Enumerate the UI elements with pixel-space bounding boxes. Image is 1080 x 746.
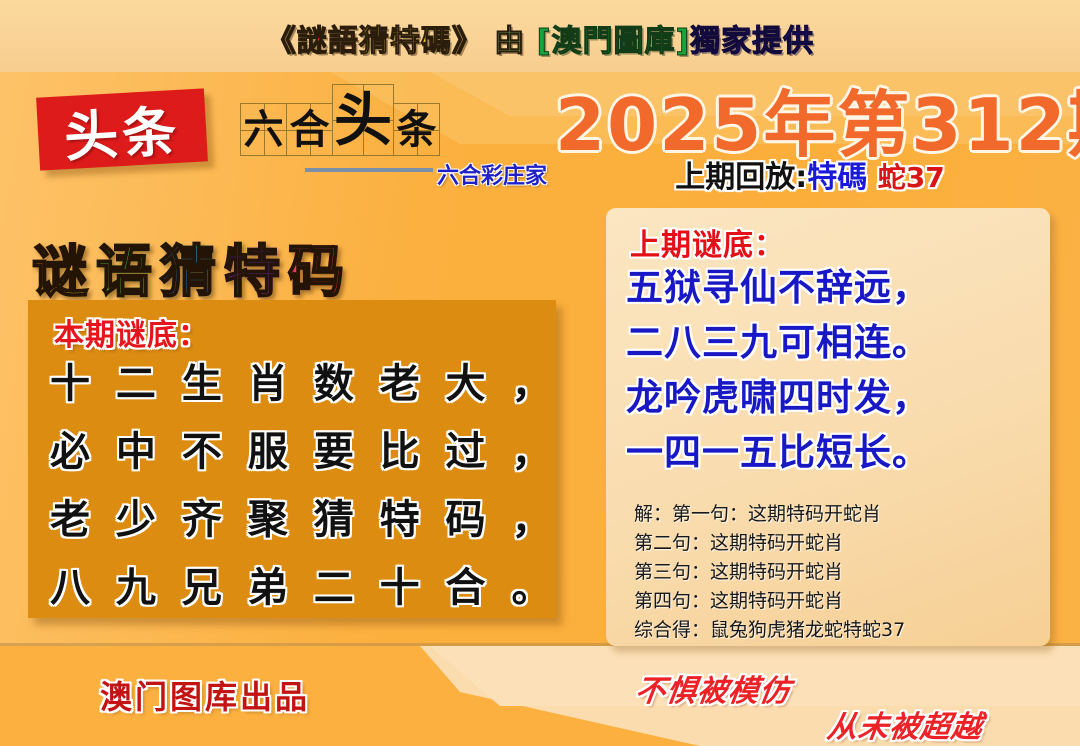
rainbow-title-char: 谜 bbox=[32, 227, 90, 308]
masthead-line: 《謎語猜特碼》 由 [澳門圖庫]獨家提供 bbox=[0, 16, 1080, 60]
riddle-line: 必 中 不 服 要 比 过 ， bbox=[50, 418, 542, 486]
rainbow-title-char: 猜 bbox=[160, 227, 218, 308]
explanation-line: 第三句：这期特码开蛇肖 bbox=[634, 558, 1034, 587]
previous-draw-line: 上期回放:特碼 蛇37 bbox=[560, 152, 1060, 192]
previous-draw-label: 上期回放: bbox=[675, 152, 807, 196]
previous-draw-special-value: 蛇37 bbox=[878, 156, 945, 196]
issue-title: 2025年第312期 bbox=[555, 66, 1055, 150]
headline-badge: 头条 bbox=[36, 88, 208, 170]
previous-answer-lines: 五狱寻仙不辞远， 二八三九可相连。 龙吟虎啸四时发， 一四一五比短长。 bbox=[626, 260, 1036, 480]
previous-answer-panel: 上期谜底： 五狱寻仙不辞远， 二八三九可相连。 龙吟虎啸四时发， 一四一五比短长… bbox=[606, 208, 1050, 646]
rainbow-title-char: 语 bbox=[96, 227, 154, 308]
masthead-source-bracket-open: [ bbox=[537, 24, 552, 59]
footer-credit: 澳门图库出品 bbox=[100, 672, 310, 718]
grid-title-char: 合 bbox=[290, 110, 330, 150]
masthead-source: 澳門圖庫 bbox=[551, 16, 675, 60]
rainbow-title-char: 特 bbox=[224, 227, 282, 308]
answer-line: 龙吟虎啸四时发， bbox=[626, 370, 1036, 425]
headline-badge-label: 头条 bbox=[36, 88, 208, 170]
grid-title: 六 合 头 条 bbox=[240, 84, 439, 156]
grid-title-char: 六 bbox=[244, 110, 284, 150]
answer-explanation: 解：第一句：这期特码开蛇肖 第二句：这期特码开蛇肖 第三句：这期特码开蛇肖 第四… bbox=[634, 500, 1034, 645]
answer-line: 五狱寻仙不辞远， bbox=[626, 260, 1036, 315]
explanation-line: 综合得：鼠兔狗虎猪龙蛇特蛇37 bbox=[634, 616, 1034, 645]
riddle-line: 老 少 齐 聚 猜 特 码 ， bbox=[50, 486, 542, 554]
poster-canvas: 《謎語猜特碼》 由 [澳門圖庫]獨家提供 头条 六 合 头 条 六合彩庄家 20… bbox=[0, 0, 1080, 746]
riddle-line: 十 二 生 肖 数 老 大 ， bbox=[50, 350, 542, 418]
previous-draw-special-label: 特碼 bbox=[807, 152, 867, 196]
masthead-title-yellow: 猜特碼 bbox=[359, 16, 452, 60]
explanation-line: 解：第一句：这期特码开蛇肖 bbox=[634, 500, 1034, 529]
footer-slogan-2: 从未被超越 bbox=[825, 702, 986, 746]
answer-line: 二八三九可相连。 bbox=[626, 315, 1036, 370]
subtitle-rule bbox=[305, 168, 433, 172]
rainbow-title: 谜 语 猜 特 码 bbox=[32, 236, 352, 298]
current-riddle-panel: 本期谜底： 十 二 生 肖 数 老 大 ， 必 中 不 服 要 比 过 ， 老 … bbox=[28, 300, 556, 618]
rainbow-title-char: 码 bbox=[288, 227, 346, 308]
footer-slogan-1: 不惧被模仿 bbox=[633, 666, 794, 710]
current-riddle-lines: 十 二 生 肖 数 老 大 ， 必 中 不 服 要 比 过 ， 老 少 齐 聚 … bbox=[50, 350, 542, 622]
masthead-source-bracket-close: ] bbox=[675, 24, 690, 59]
current-riddle-heading: 本期谜底： bbox=[54, 310, 209, 354]
grid-title-char: 条 bbox=[397, 110, 437, 150]
masthead-bracket-open: 《 bbox=[266, 16, 297, 60]
subtitle-text: 六合彩庄家 bbox=[437, 158, 547, 190]
masthead-bracket-close: 》 bbox=[452, 16, 483, 60]
grid-title-cell: 头 bbox=[332, 84, 394, 156]
grid-title-char: 头 bbox=[334, 91, 392, 149]
masthead-by: 由 bbox=[494, 16, 525, 60]
masthead-exclusive: 獨家提供 bbox=[690, 16, 814, 60]
grid-title-cell: 合 bbox=[286, 103, 333, 156]
riddle-line: 八 九 兄 弟 二 十 合 。 bbox=[50, 554, 542, 622]
answer-line: 一四一五比短长。 bbox=[626, 425, 1036, 480]
grid-title-cell: 条 bbox=[393, 103, 440, 156]
previous-answer-heading: 上期谜底： bbox=[630, 220, 785, 264]
explanation-line: 第四句：这期特码开蛇肖 bbox=[634, 587, 1034, 616]
grid-title-cell: 六 bbox=[240, 103, 287, 156]
masthead-title-red: 謎語 bbox=[297, 16, 359, 60]
explanation-line: 第二句：这期特码开蛇肖 bbox=[634, 529, 1034, 558]
